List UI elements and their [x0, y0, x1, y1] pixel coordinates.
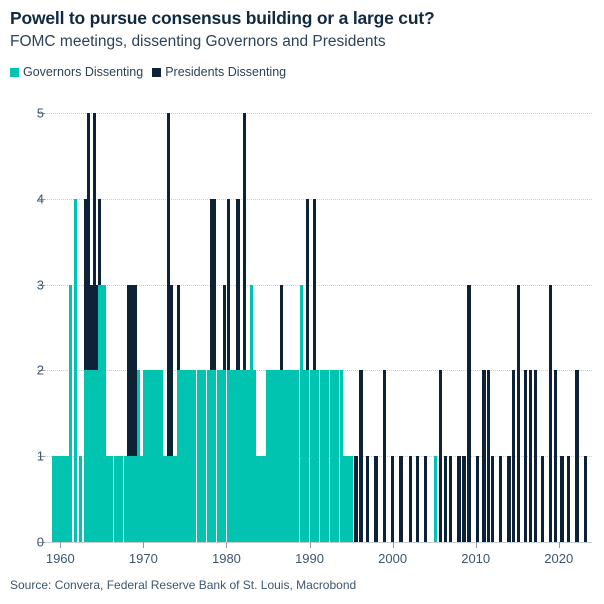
legend-label: Governors Dissenting	[23, 66, 143, 79]
bar-presidents	[366, 456, 369, 542]
bar-presidents	[391, 456, 394, 542]
bar-presidents	[359, 370, 362, 542]
bar-governors	[349, 456, 352, 542]
legend-item-presidents[interactable]: Presidents Dissenting	[152, 66, 286, 79]
x-axis-tick-label: 1970	[129, 551, 158, 566]
bar-presidents	[374, 456, 377, 542]
bar-presidents	[491, 456, 494, 542]
legend-item-governors[interactable]: Governors Dissenting	[10, 66, 143, 79]
bar-presidents	[467, 285, 470, 542]
x-tick-mark	[310, 542, 311, 548]
x-tick-mark	[393, 542, 394, 548]
page-subtitle: FOMC meetings, dissenting Governors and …	[10, 33, 386, 51]
bar-presidents	[554, 370, 557, 542]
x-tick-mark	[226, 542, 227, 548]
bar-presidents	[499, 456, 502, 542]
bar-governors	[69, 285, 72, 542]
x-axis-tick-label: 1980	[212, 551, 241, 566]
y-axis-tick-label: 0	[37, 535, 44, 550]
bar-presidents	[487, 370, 490, 542]
bar-presidents	[560, 456, 563, 542]
bar-presidents	[482, 370, 485, 542]
page-title: Powell to pursue consensus building or a…	[10, 8, 434, 29]
bar-presidents	[449, 456, 452, 542]
bar-presidents	[534, 370, 537, 542]
bar-presidents	[444, 456, 447, 542]
bar-presidents	[462, 456, 465, 542]
y-axis-tick-label: 1	[37, 449, 44, 464]
x-axis-tick-label: 1960	[46, 551, 75, 566]
bar-presidents	[567, 456, 570, 542]
gridline	[38, 113, 592, 114]
bar-presidents	[409, 456, 412, 542]
bar-presidents	[476, 456, 479, 542]
axis-baseline	[38, 542, 592, 543]
y-axis-tick-label: 2	[37, 363, 44, 378]
y-axis-tick-label: 3	[37, 277, 44, 292]
legend-label: Presidents Dissenting	[165, 66, 286, 79]
x-tick-mark	[143, 542, 144, 548]
bar-presidents	[584, 456, 587, 542]
legend-swatch-icon	[10, 68, 19, 77]
chart-plot-area: 0123451960197019801990200020102020	[52, 113, 592, 542]
bar-presidents	[575, 370, 578, 542]
chart-legend: Governors DissentingPresidents Dissentin…	[10, 66, 295, 79]
bar-presidents	[517, 285, 520, 542]
x-tick-mark	[559, 542, 560, 548]
x-axis-tick-label: 1990	[295, 551, 324, 566]
bar-presidents	[416, 456, 419, 542]
bar-presidents	[512, 370, 515, 542]
bar-governors	[434, 456, 437, 542]
bar-governors	[74, 199, 77, 542]
x-tick-mark	[60, 542, 61, 548]
source-note: Source: Convera, Federal Reserve Bank of…	[10, 578, 356, 592]
bar-presidents	[383, 370, 386, 542]
bar-presidents	[529, 370, 532, 542]
bar-presidents	[354, 456, 357, 542]
bar-presidents	[439, 370, 442, 542]
x-axis-tick-label: 2020	[544, 551, 573, 566]
legend-swatch-icon	[152, 68, 161, 77]
bar-presidents	[457, 456, 460, 542]
bar-presidents	[541, 456, 544, 542]
bar-presidents	[549, 285, 552, 542]
y-axis-tick-label: 4	[37, 191, 44, 206]
x-axis-tick-label: 2000	[378, 551, 407, 566]
bar-presidents	[524, 370, 527, 542]
bar-presidents	[424, 456, 427, 542]
bar-presidents	[399, 456, 402, 542]
bar-presidents	[507, 456, 510, 542]
x-tick-mark	[476, 542, 477, 548]
x-axis-tick-label: 2010	[461, 551, 490, 566]
bar-governors	[79, 456, 82, 542]
y-axis-tick-label: 5	[37, 106, 44, 121]
